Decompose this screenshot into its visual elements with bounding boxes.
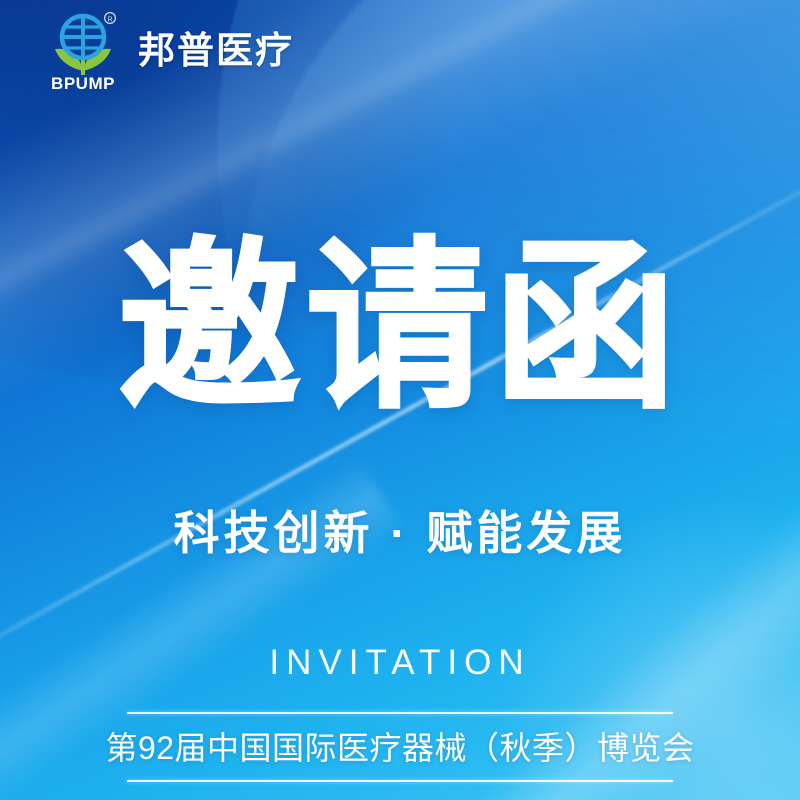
brand-name: 邦普医疗 [138,32,294,69]
divider-bottom [127,780,673,782]
poster-header: R BPUMP 邦普医疗 [0,0,800,100]
invitation-poster: R BPUMP 邦普医疗 邀请函 科技创新 · 赋能发展 INVITATION … [0,0,800,800]
poster-footer: 第92届中国国际医疗器械（秋季）博览会 [0,712,800,782]
main-title-block: 邀请函 [0,236,800,418]
invitation-english-label: INVITATION [269,645,530,680]
invitation-en-block: INVITATION [0,645,800,680]
svg-text:R: R [107,16,112,23]
page-title: 邀请函 [118,236,682,418]
exhibition-name: 第92届中国国际医疗器械（秋季）博览会 [105,728,694,768]
bpump-circle-grid-logo: R BPUMP [44,9,122,91]
subtitle-block: 科技创新 · 赋能发展 [0,506,800,561]
subtitle: 科技创新 · 赋能发展 [174,506,627,561]
divider-top [127,712,673,714]
svg-text:BPUMP: BPUMP [51,74,115,91]
